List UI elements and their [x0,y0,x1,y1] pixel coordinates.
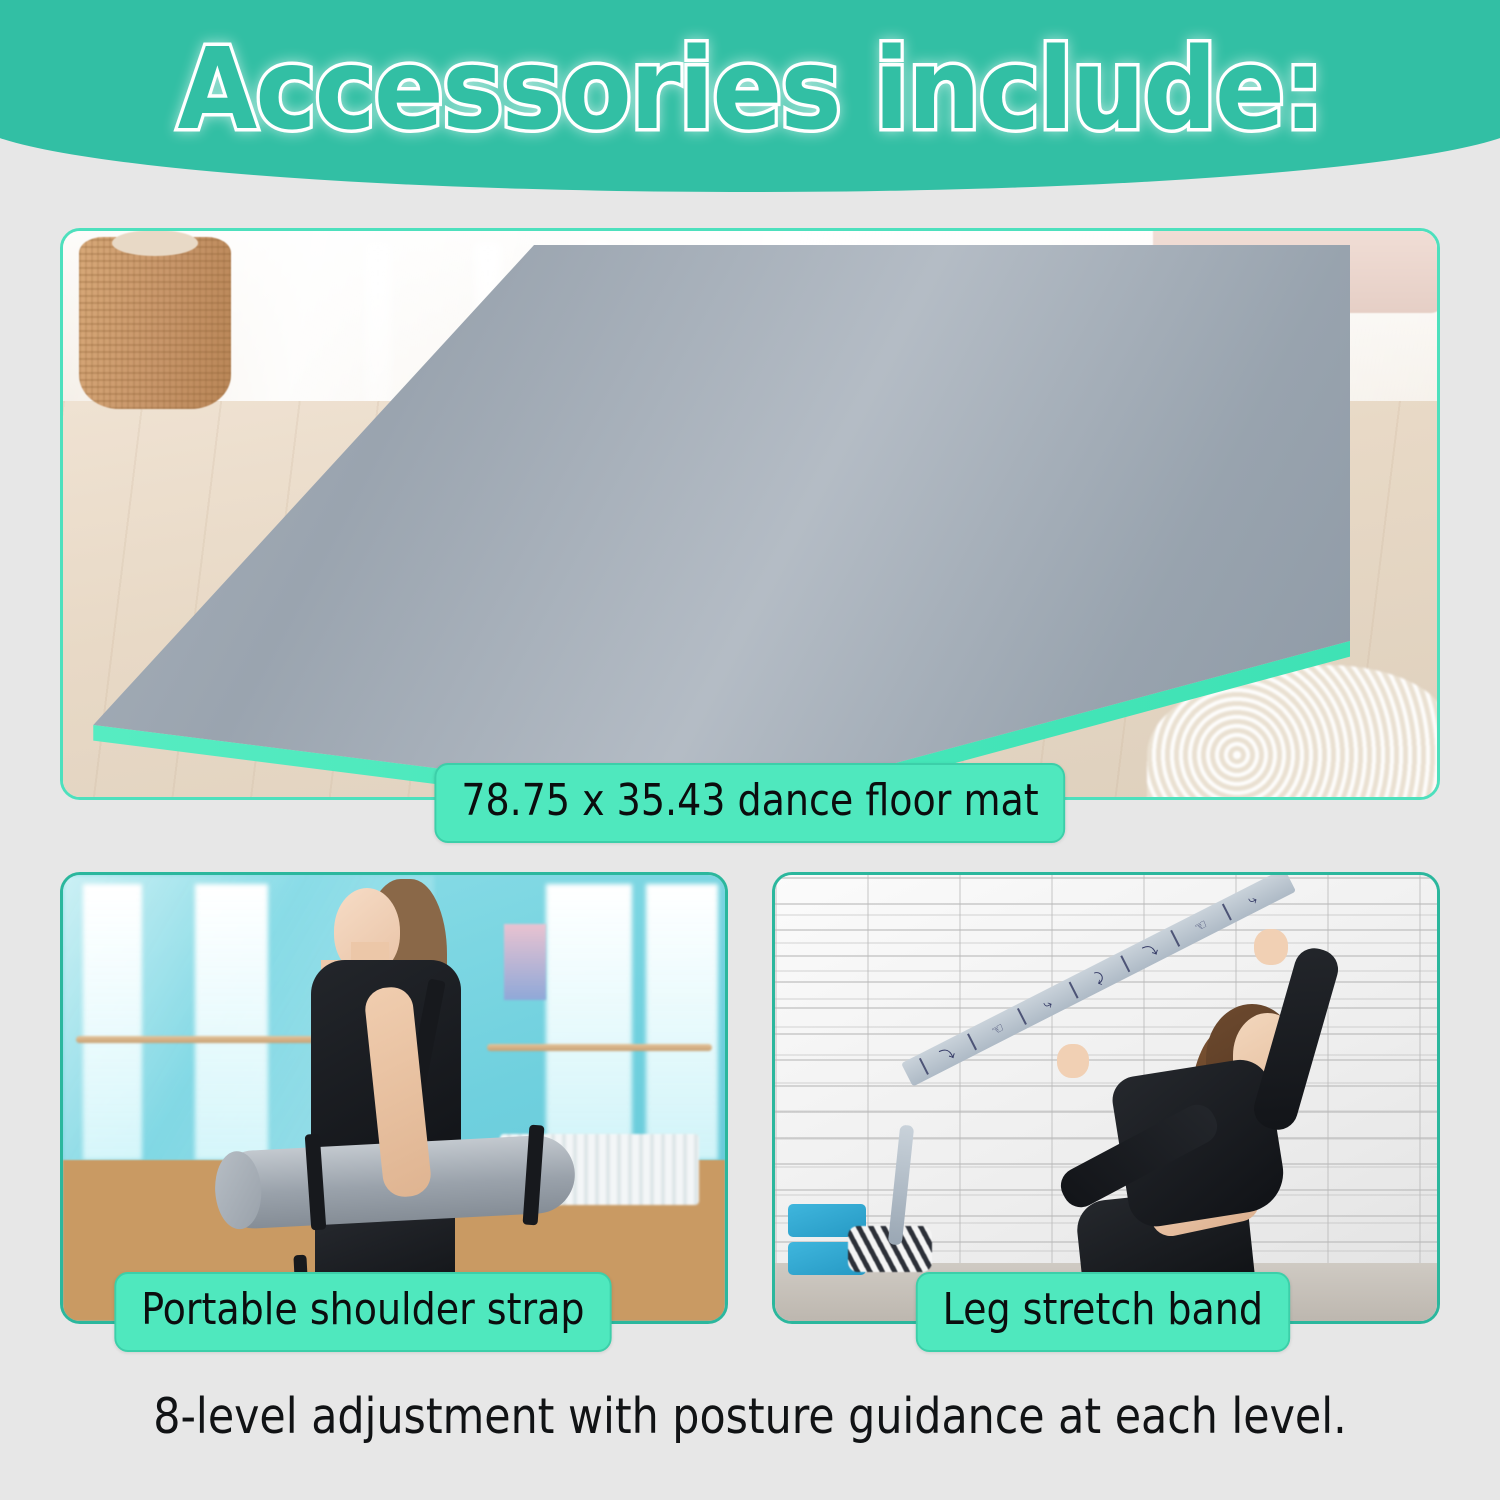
model-hand [1057,1044,1089,1078]
band-pose-icon: ☜ [1191,915,1212,936]
band-pose-icon: ☜ [988,1019,1009,1040]
header-banner: Accessories include: [0,0,1500,192]
band-pose-icon: ⤷ [1037,993,1058,1014]
studio-window [646,884,719,1161]
band-pose-icon: ⤸ [1089,967,1110,988]
band-divider-mark [967,1034,977,1051]
band-divider-mark [1069,982,1079,999]
caption-leg-stretch-band: Leg stretch band [916,1272,1290,1352]
studio-window [195,884,268,1161]
band-pose-icon: ⤵ [1141,941,1162,962]
band-divider-mark [1121,956,1131,973]
studio-window [83,884,143,1161]
leg-stretch-band-photo: ⤵ ☜ ⤷ ⤸ ⤵ ☜ ⤷ [772,872,1440,1324]
band-pose-icon: ⤵ [938,1044,959,1065]
band-divider-mark [919,1058,929,1075]
band-divider-mark [1171,930,1181,947]
band-divider-mark [1017,1008,1027,1025]
dance-studio-scene [63,875,725,1321]
shoulder-strap-photo [60,872,728,1324]
dance-floor-mat-photo [60,228,1440,800]
band-pose-icon: ⤷ [1242,889,1263,910]
rattan-basket [79,237,231,409]
caption-dance-floor-mat: 78.75 x 35.43 dance floor mat [434,763,1065,843]
footer-note: 8-level adjustment with posture guidance… [23,1392,1478,1441]
band-divider-mark [1222,904,1232,921]
caption-shoulder-strap: Portable shoulder strap [114,1272,611,1352]
page-title: Accessories include: [32,34,1467,146]
ballet-barre [487,1044,712,1051]
model-hand [1254,929,1288,965]
hero-scene [63,231,1437,797]
studio-window [546,884,632,1161]
wall-poster [504,924,546,1000]
ballet-barre [76,1036,328,1043]
